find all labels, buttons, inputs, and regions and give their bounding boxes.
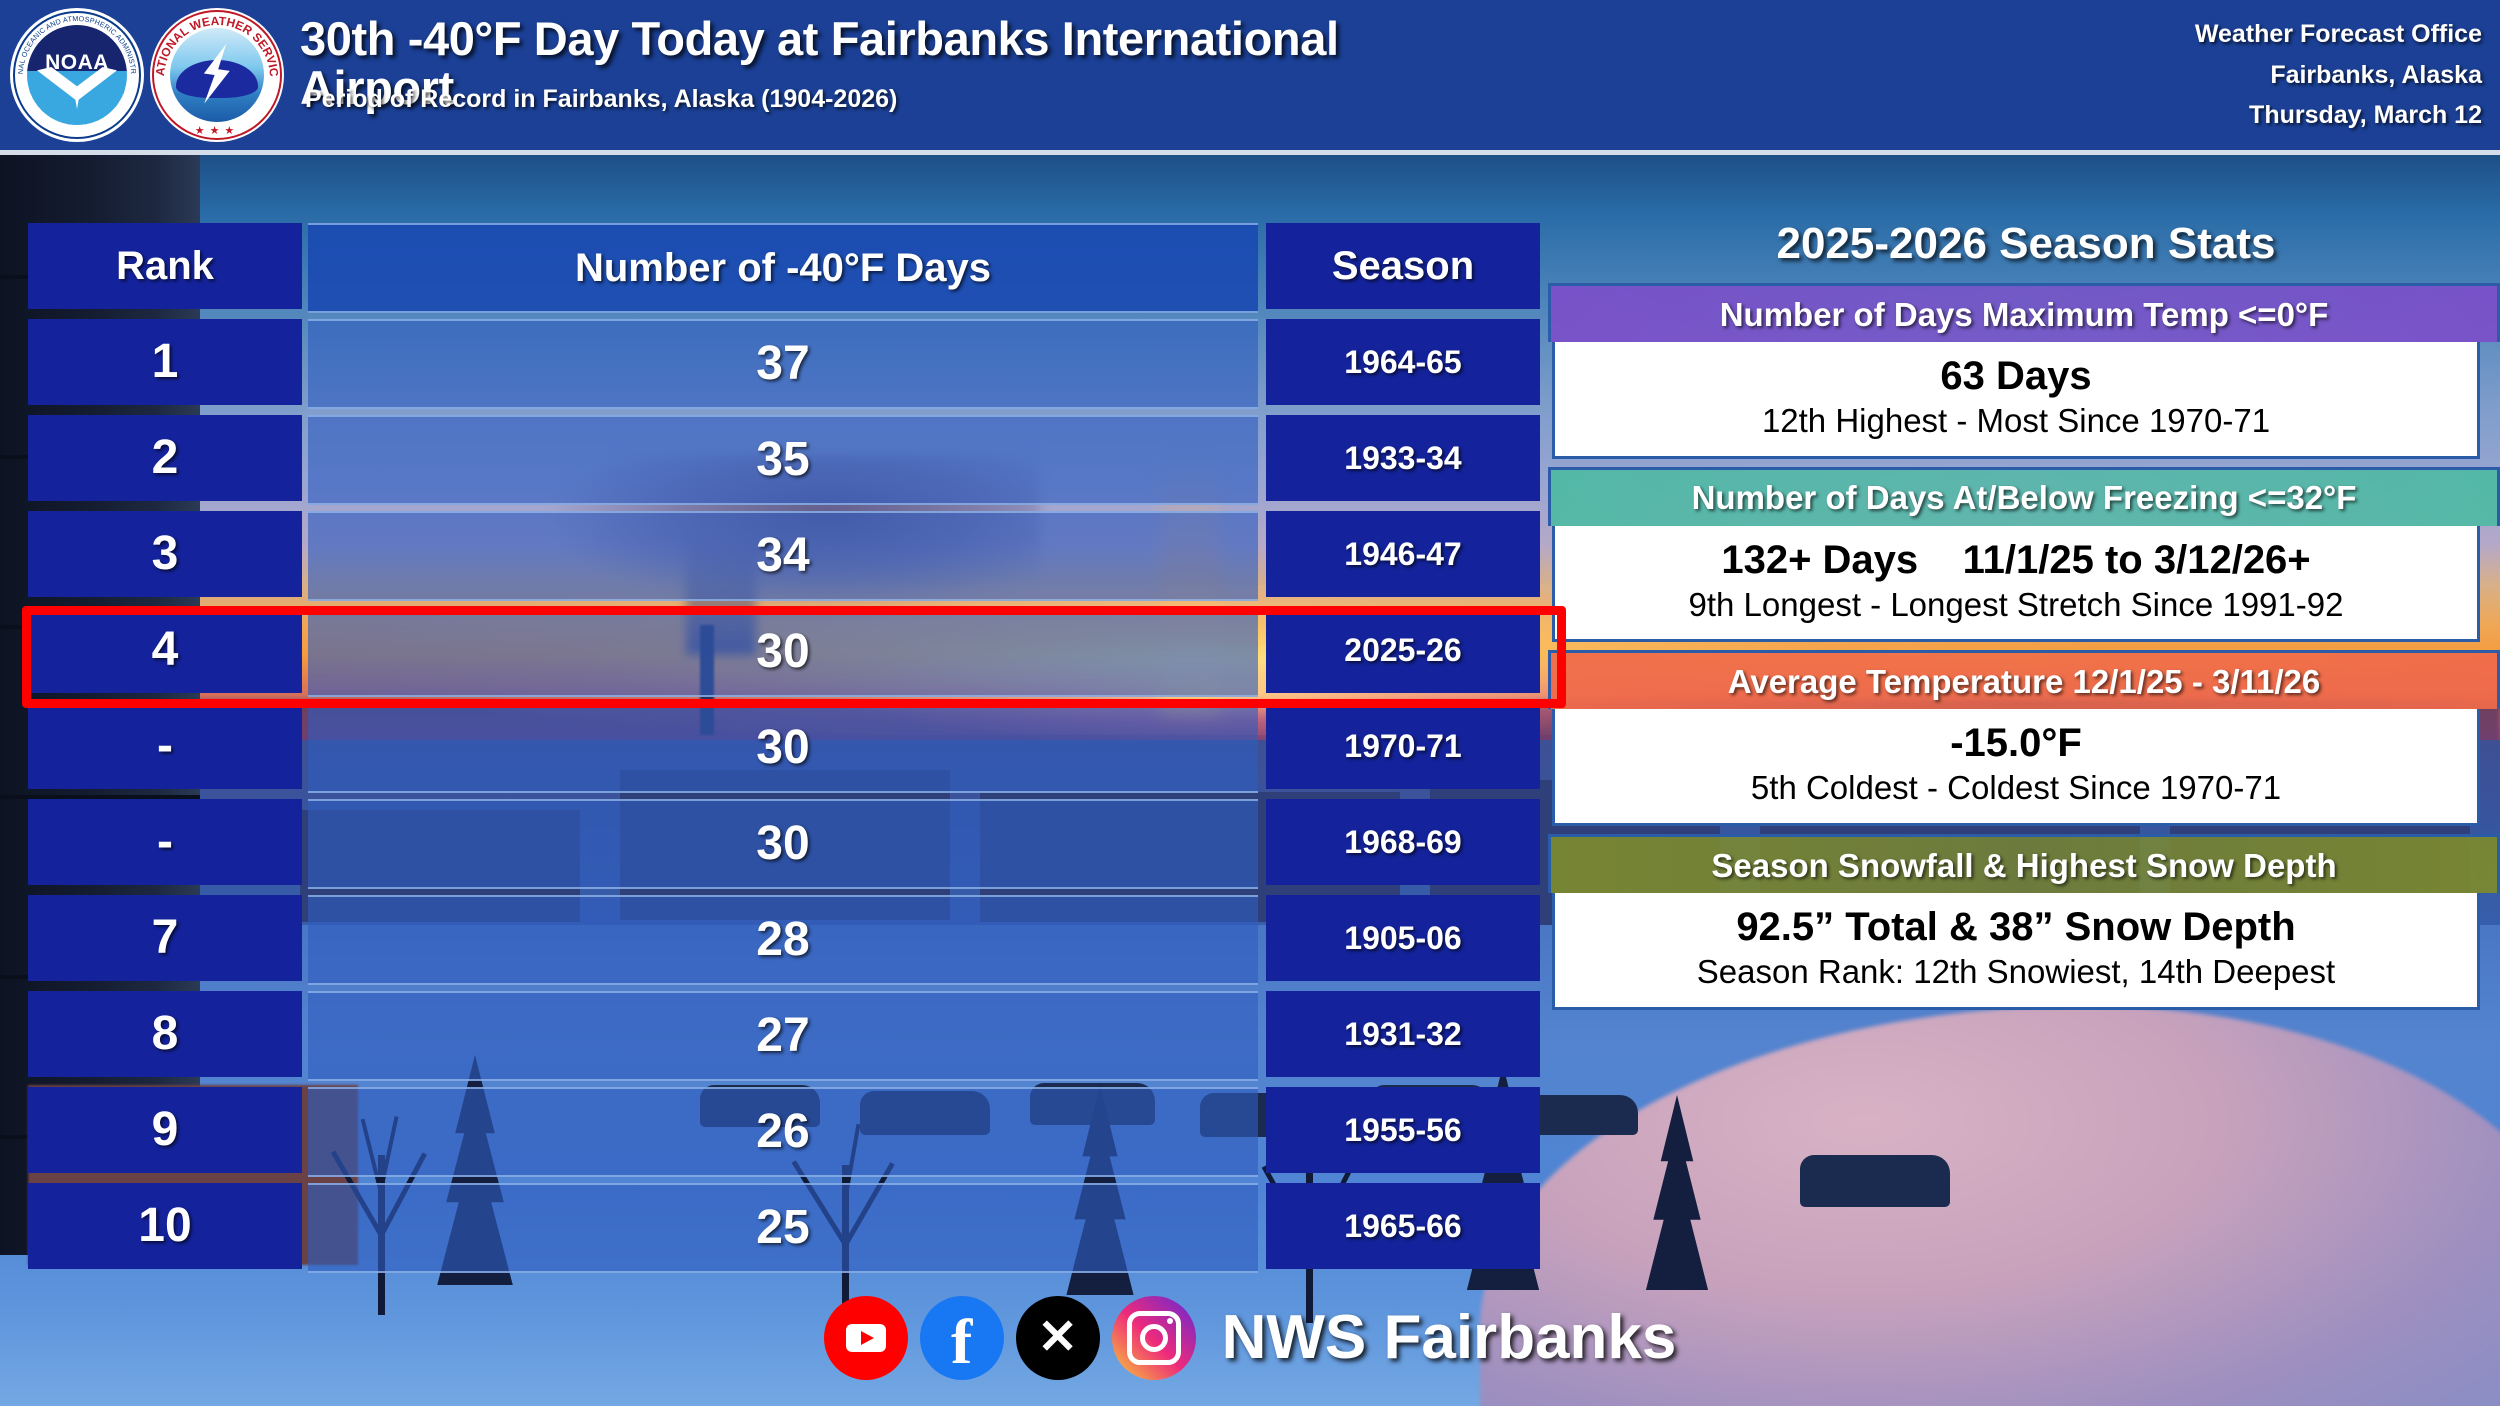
table-row: -301968-69 xyxy=(28,794,1540,890)
office-line: Thursday, March 12 xyxy=(1842,95,2482,136)
cell-days: 34 xyxy=(308,511,1258,601)
ranking-table: Rank Number of -40°F Days Season 1371964… xyxy=(28,218,1540,1274)
stat-card-body: 132+ Days 11/1/25 to 3/12/26+9th Longest… xyxy=(1552,526,2480,643)
table-row: 10251965-66 xyxy=(28,1178,1540,1274)
footer-label: NWS Fairbanks xyxy=(1222,1307,1677,1369)
cell-season: 1968-69 xyxy=(1266,799,1540,885)
stat-card-body: -15.0°F5th Coldest - Coldest Since 1970-… xyxy=(1552,709,2480,826)
facebook-icon[interactable]: f xyxy=(920,1296,1004,1380)
parked-car xyxy=(1800,1155,1950,1207)
table-row: 2351933-34 xyxy=(28,410,1540,506)
table-row: 9261955-56 xyxy=(28,1082,1540,1178)
cell-season: 1931-32 xyxy=(1266,991,1540,1077)
social-footer: f ✕ NWS Fairbanks xyxy=(0,1288,2500,1388)
cell-season: 1946-47 xyxy=(1266,511,1540,597)
cell-rank: 9 xyxy=(28,1087,302,1173)
stat-card-note: Season Rank: 12th Snowiest, 14th Deepest xyxy=(1563,952,2469,993)
stat-card-note: 5th Coldest - Coldest Since 1970-71 xyxy=(1563,768,2469,809)
cell-rank: - xyxy=(28,799,302,885)
page-subtitle: Period of Record in Fairbanks, Alaska (1… xyxy=(305,86,1485,114)
cell-rank: 3 xyxy=(28,511,302,597)
stat-card-value: 92.5” Total & 38” Snow Depth xyxy=(1563,903,2469,952)
stat-card-heading: Number of Days Maximum Temp <=0°F xyxy=(1548,283,2500,342)
cell-season: 1955-56 xyxy=(1266,1087,1540,1173)
cell-rank: 2 xyxy=(28,415,302,501)
instagram-icon[interactable] xyxy=(1112,1296,1196,1380)
cell-rank: 8 xyxy=(28,991,302,1077)
stat-card: Season Snowfall & Highest Snow Depth92.5… xyxy=(1552,834,2500,1010)
table-row: 4302025-26 xyxy=(28,602,1540,698)
stat-card-note: 9th Longest - Longest Stretch Since 1991… xyxy=(1563,585,2469,626)
facebook-glyph: f xyxy=(951,1310,972,1374)
stat-card: Number of Days At/Below Freezing <=32°F1… xyxy=(1552,467,2500,643)
stat-card-heading: Average Temperature 12/1/25 - 3/11/26 xyxy=(1548,650,2500,709)
nws-stars-icon: ★★★ xyxy=(150,124,284,137)
column-header-rank: Rank xyxy=(28,223,302,309)
x-icon[interactable]: ✕ xyxy=(1016,1296,1100,1380)
cell-rank: 10 xyxy=(28,1183,302,1269)
cell-season: 2025-26 xyxy=(1266,607,1540,693)
cell-season: 1905-06 xyxy=(1266,895,1540,981)
stat-card-value: -15.0°F xyxy=(1563,719,2469,768)
cell-days: 28 xyxy=(308,895,1258,985)
office-line: Weather Forecast Office xyxy=(1842,14,2482,55)
header-divider xyxy=(0,150,2500,155)
stat-card: Average Temperature 12/1/25 - 3/11/26-15… xyxy=(1552,650,2500,826)
cell-days: 25 xyxy=(308,1183,1258,1273)
cell-season: 1964-65 xyxy=(1266,319,1540,405)
stat-card-value: 63 Days xyxy=(1563,352,2469,401)
x-glyph: ✕ xyxy=(1038,1314,1078,1362)
season-stats-title: 2025-2026 Season Stats xyxy=(1552,205,2500,283)
table-row: 3341946-47 xyxy=(28,506,1540,602)
stat-card-body: 63 Days12th Highest - Most Since 1970-71 xyxy=(1552,342,2480,459)
cell-season: 1933-34 xyxy=(1266,415,1540,501)
stat-card-body: 92.5” Total & 38” Snow DepthSeason Rank:… xyxy=(1552,893,2480,1010)
cell-days: 30 xyxy=(308,703,1258,793)
office-info: Weather Forecast Office Fairbanks, Alask… xyxy=(1842,14,2482,136)
cell-season: 1970-71 xyxy=(1266,703,1540,789)
table-row: 7281905-06 xyxy=(28,890,1540,986)
cell-season: 1965-66 xyxy=(1266,1183,1540,1269)
season-stats-panel: 2025-2026 Season Stats Number of Days Ma… xyxy=(1552,205,2500,1018)
cell-days: 26 xyxy=(308,1087,1258,1177)
office-line: Fairbanks, Alaska xyxy=(1842,55,2482,96)
table-row: 8271931-32 xyxy=(28,986,1540,1082)
noaa-logo: NATIONAL OCEANIC AND ATMOSPHERIC ADMINIS… xyxy=(10,8,144,142)
table-row: 1371964-65 xyxy=(28,314,1540,410)
cell-days: 30 xyxy=(308,607,1258,697)
stat-card-note: 12th Highest - Most Since 1970-71 xyxy=(1563,401,2469,442)
cell-rank: - xyxy=(28,703,302,789)
cell-rank: 1 xyxy=(28,319,302,405)
cell-days: 30 xyxy=(308,799,1258,889)
column-header-season: Season xyxy=(1266,223,1540,309)
table-row: -301970-71 xyxy=(28,698,1540,794)
page-header: NATIONAL OCEANIC AND ATMOSPHERIC ADMINIS… xyxy=(0,0,2500,150)
nws-logo: NATIONAL WEATHER SERVICE ★★★ xyxy=(150,8,284,142)
stat-card-heading: Season Snowfall & Highest Snow Depth xyxy=(1548,834,2500,893)
youtube-icon[interactable] xyxy=(824,1296,908,1380)
cell-rank: 4 xyxy=(28,607,302,693)
cell-days: 37 xyxy=(308,319,1258,409)
cell-rank: 7 xyxy=(28,895,302,981)
column-header-days: Number of -40°F Days xyxy=(308,223,1258,313)
stat-card: Number of Days Maximum Temp <=0°F63 Days… xyxy=(1552,283,2500,459)
stat-card-heading: Number of Days At/Below Freezing <=32°F xyxy=(1548,467,2500,526)
cell-days: 35 xyxy=(308,415,1258,505)
stat-card-value: 132+ Days 11/1/25 to 3/12/26+ xyxy=(1563,536,2469,585)
cell-days: 27 xyxy=(308,991,1258,1081)
table-header-row: Rank Number of -40°F Days Season xyxy=(28,218,1540,314)
